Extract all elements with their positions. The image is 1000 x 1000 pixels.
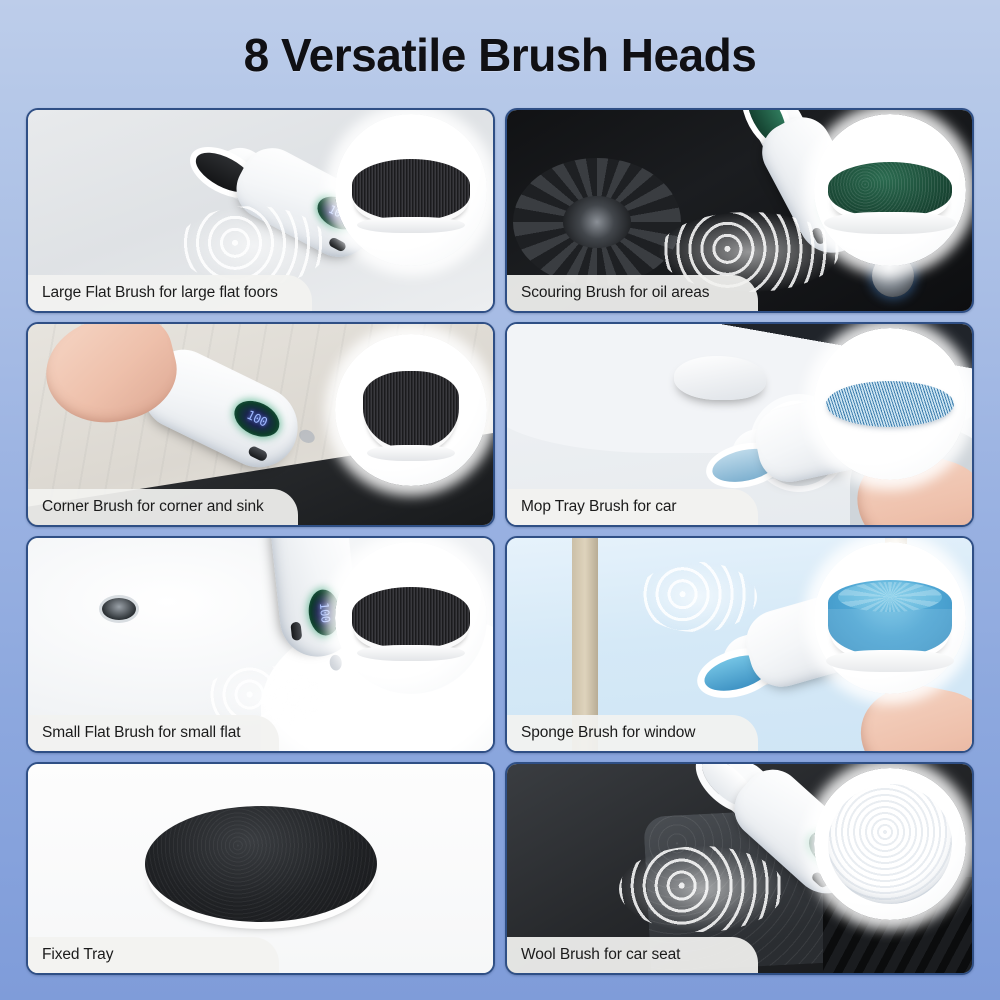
inset-large-flat-bristle-brush-icon (335, 114, 487, 266)
water-splash (178, 206, 328, 286)
brush-card-wool[interactable]: 100 Wool Brush for car seat (505, 762, 974, 975)
fixed-tray-disc-icon (145, 806, 377, 922)
brush-card-large-flat[interactable]: 100 Large Flat Brush for large flat foor… (26, 108, 495, 313)
device-power-button[interactable] (247, 445, 269, 463)
card-caption: Sponge Brush for window (507, 715, 758, 751)
inset-white-wool-pad-icon (814, 768, 966, 920)
device-display-value: 100 (317, 602, 333, 624)
device-display: 100 (228, 394, 285, 444)
brush-card-corner[interactable]: 100 Corner Brush for corner and sink (26, 322, 495, 527)
stove-burner-icon (513, 158, 681, 286)
inset-blue-sponge-icon (814, 542, 966, 694)
sink-overflow-hole-icon (102, 598, 136, 620)
device-power-button[interactable] (290, 622, 302, 641)
water-splash (637, 562, 757, 632)
wool-pad-puck (828, 784, 952, 904)
card-caption: Mop Tray Brush for car (507, 489, 758, 525)
sponge-puck (828, 580, 952, 656)
card-caption: Wool Brush for car seat (507, 937, 758, 973)
device-display-value: 100 (244, 408, 269, 430)
bristle-brush-puck (352, 587, 470, 649)
page-title: 8 Versatile Brush Heads (0, 0, 1000, 81)
microfiber-mop-puck (826, 381, 954, 427)
bristle-brush-puck (352, 159, 470, 221)
inset-small-flat-bristle-brush-icon (335, 542, 487, 694)
inset-green-scouring-pad-icon (814, 114, 966, 266)
card-caption: Small Flat Brush for small flat (28, 715, 279, 751)
corner-brush-puck (363, 371, 459, 449)
scouring-pad-puck (828, 162, 952, 218)
brush-card-small-flat[interactable]: 100 Small Flat Brush for small flat (26, 536, 495, 753)
inset-corner-bristle-brush-icon (335, 334, 487, 486)
card-caption: Scouring Brush for oil areas (507, 275, 758, 311)
inset-blue-microfiber-mop-icon (814, 328, 966, 480)
card-caption: Large Flat Brush for large flat foors (28, 275, 312, 311)
brush-card-mop-tray[interactable]: 100 Mop Tray Brush for car (505, 322, 974, 527)
brush-head-grid: 100 Large Flat Brush for large flat foor… (26, 108, 974, 975)
device-power-button[interactable] (328, 236, 348, 252)
card-caption: Corner Brush for corner and sink (28, 489, 298, 525)
foam-splash (619, 846, 784, 932)
brush-card-sponge[interactable]: 100 Sponge Brush for window (505, 536, 974, 753)
card-caption: Fixed Tray (28, 937, 279, 973)
brush-card-scouring[interactable]: 100 Scouring Brush for oil areas (505, 108, 974, 313)
brush-card-fixed-tray[interactable]: Fixed Tray (26, 762, 495, 975)
car-side-mirror-icon (674, 356, 766, 400)
